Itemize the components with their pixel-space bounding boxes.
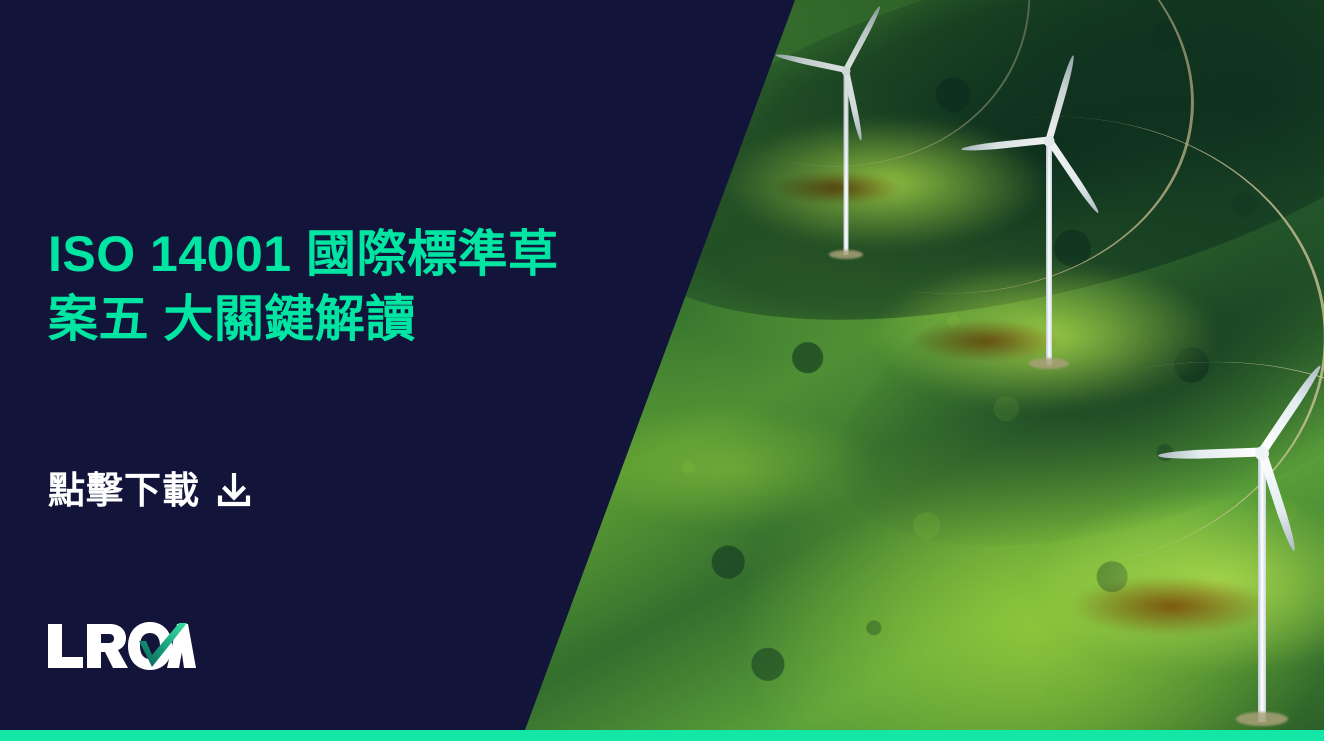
lrqa-logo xyxy=(46,612,196,674)
turbine-hub xyxy=(1255,446,1269,460)
download-cta[interactable]: 點擊下載 xyxy=(48,470,254,510)
bottom-accent-bar xyxy=(0,730,1324,741)
turbine-hub xyxy=(842,66,851,75)
wind-turbine-icon xyxy=(845,70,847,255)
turbine-base xyxy=(829,250,863,259)
lrqa-logo-mark xyxy=(46,612,196,674)
promo-banner: ISO 14001 國際標準草 案五 大關鍵解讀 點擊下載 xyxy=(0,0,1324,741)
page-title: ISO 14001 國際標準草 案五 大關鍵解讀 xyxy=(48,222,698,352)
wind-turbine-icon xyxy=(1261,452,1263,722)
content-panel: ISO 14001 國際標準草 案五 大關鍵解讀 點擊下載 xyxy=(0,0,820,730)
turbine-base xyxy=(1029,358,1069,369)
turbine-mast xyxy=(844,70,849,255)
download-icon xyxy=(214,470,254,510)
turbine-base xyxy=(1236,712,1288,726)
turbine-mast xyxy=(1258,452,1266,722)
turbine-hub xyxy=(1044,136,1055,147)
wind-turbine-icon xyxy=(1048,140,1050,365)
download-cta-label: 點擊下載 xyxy=(48,472,200,509)
turbine-mast xyxy=(1046,140,1052,365)
